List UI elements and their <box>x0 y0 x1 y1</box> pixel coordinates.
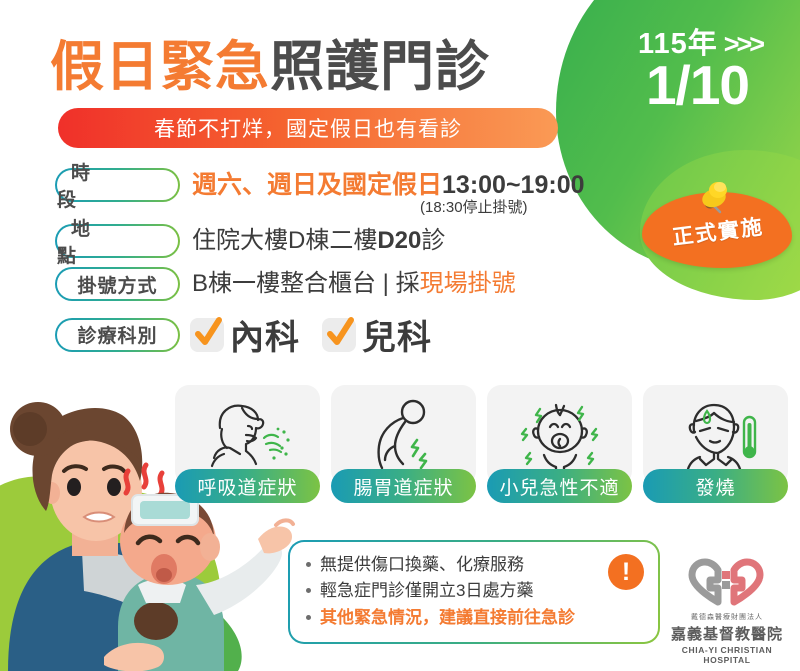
exclamation-icon: ! <box>608 554 644 590</box>
subtitle-text: 春節不打烊，國定假日也有看診 <box>154 113 462 143</box>
info-label-departments: 診療科別 <box>77 321 157 348</box>
check-icon <box>324 314 356 354</box>
note-item: 無提供傷口換藥、化療服務 <box>304 552 646 578</box>
info-row-departments: 診療科別 內科 兒科 <box>55 310 655 359</box>
department-label-internal: 內科 <box>230 310 300 359</box>
note-item-highlight: 其他緊急情況，建議直接前往急診 <box>304 605 646 631</box>
hours-note: (18:30停止掛號) <box>420 196 528 217</box>
logo-line-2: 嘉義基督教醫院 <box>666 623 788 644</box>
checkbox-pediatrics[interactable] <box>322 318 356 352</box>
info-label-location: 地 點 <box>57 214 178 268</box>
notes-list: 無提供傷口換藥、化療服務 輕急症門診僅開立3日處方藥 其他緊急情況，建議直接前往… <box>304 552 646 631</box>
department-checkbox-group: 內科 兒科 <box>190 310 454 359</box>
info-value-location: 住院大樓D棟二樓D20診 <box>192 224 445 256</box>
department-pediatrics[interactable]: 兒科 <box>322 310 432 359</box>
page-title-orange: 假日緊急 <box>50 35 270 98</box>
info-rows: 時 段 週六、週日及國定假日13:00~19:00 (18:30停止掛號) 地 … <box>55 168 655 368</box>
page-title: 假日緊急照護門診 <box>50 22 490 101</box>
hours-time: 13:00~19:00 <box>442 171 584 199</box>
notes-box: 無提供傷口換藥、化療服務 輕急症門診僅開立3日處方藥 其他緊急情況，建議直接前往… <box>288 540 660 644</box>
start-date: 1/10 <box>600 58 795 113</box>
symptom-cards: 呼吸道症狀 腸胃道症狀 <box>175 385 790 503</box>
logo-line-3: CHIA-YI CHRISTIAN HOSPITAL <box>666 645 788 665</box>
symptom-label-text-respiratory: 呼吸道症狀 <box>197 473 297 500</box>
symptom-label-fever: 發燒 <box>643 469 788 503</box>
symptom-card-pediatric[interactable]: 小兒急性不適 <box>487 385 632 503</box>
info-label-registration: 掛號方式 <box>77 271 157 298</box>
page-title-dark: 照護門診 <box>270 35 490 98</box>
hours-days: 週六、週日及國定假日 <box>192 171 442 199</box>
symptom-card-respiratory[interactable]: 呼吸道症狀 <box>175 385 320 503</box>
info-row-hours: 時 段 週六、週日及國定假日13:00~19:00 (18:30停止掛號) <box>55 168 655 202</box>
cough-face-icon <box>202 396 294 474</box>
symptom-card-fever[interactable]: 發燒 <box>643 385 788 503</box>
checkbox-internal-medicine[interactable] <box>190 318 224 352</box>
department-internal-medicine[interactable]: 內科 <box>190 310 300 359</box>
notes-inner: 無提供傷口換藥、化療服務 輕急症門診僅開立3日處方藥 其他緊急情況，建議直接前往… <box>290 542 658 642</box>
pushpin-icon <box>690 178 738 230</box>
location-room: D20 <box>377 227 421 254</box>
poster-canvas: 115年>>> 1/10 正式實施 假日緊急照護門診 春節不打烊，國定假日也有看… <box>0 0 800 671</box>
info-label-pill-location: 地 點 <box>55 224 180 258</box>
symptom-label-pediatric: 小兒急性不適 <box>487 469 632 503</box>
info-row-location: 地 點 住院大樓D棟二樓D20診 <box>55 224 655 258</box>
location-post: 診 <box>421 227 445 254</box>
symptom-label-text-fever: 發燒 <box>695 473 735 500</box>
logo-line-1: 戴德森醫療財團法人 <box>666 612 788 622</box>
note-item: 輕急症門診僅開立3日處方藥 <box>304 578 646 604</box>
info-row-registration: 掛號方式 B棟一樓整合櫃台 | 採現場掛號 <box>55 267 655 301</box>
department-label-pediatrics: 兒科 <box>362 310 432 359</box>
info-value-registration: B棟一樓整合櫃台 | 採現場掛號 <box>192 267 516 299</box>
check-icon <box>192 314 224 354</box>
location-pre: 住院大樓D棟二樓 <box>192 227 377 254</box>
stomach-ache-icon <box>359 396 449 474</box>
info-label-hours: 時 段 <box>57 158 178 212</box>
symptom-label-respiratory: 呼吸道症狀 <box>175 469 320 503</box>
info-label-pill-registration: 掛號方式 <box>55 267 180 301</box>
crying-baby-icon <box>512 395 608 475</box>
info-label-pill-hours: 時 段 <box>55 168 180 202</box>
symptom-label-text-pediatric: 小兒急性不適 <box>499 473 619 500</box>
info-label-pill-departments: 診療科別 <box>55 318 180 352</box>
symptom-card-gastro[interactable]: 腸胃道症狀 <box>331 385 476 503</box>
subtitle-banner: 春節不打烊，國定假日也有看診 <box>58 108 558 148</box>
fever-thermometer-icon <box>670 395 762 475</box>
registration-pre: B棟一樓整合櫃台 | 採 <box>192 270 420 297</box>
symptom-label-text-gastro: 腸胃道症狀 <box>353 473 453 500</box>
symptom-label-gastro: 腸胃道症狀 <box>331 469 476 503</box>
hospital-logo: 戴德森醫療財團法人 嘉義基督教醫院 CHIA-YI CHRISTIAN HOSP… <box>666 558 788 665</box>
registration-method: 現場掛號 <box>420 270 516 297</box>
twin-hearts-icon <box>684 558 770 606</box>
exclamation-glyph: ! <box>622 560 630 585</box>
